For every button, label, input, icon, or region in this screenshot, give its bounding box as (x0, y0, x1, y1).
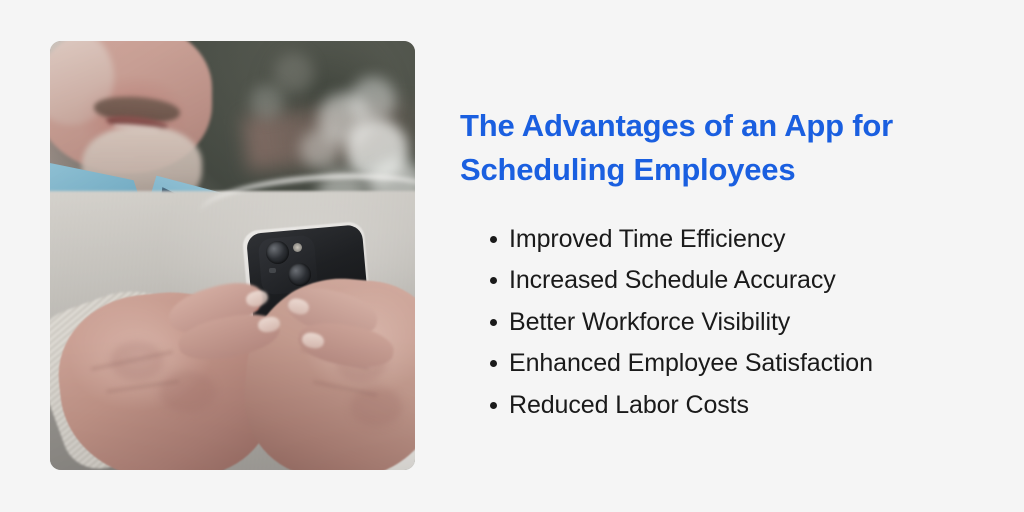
list-item: Better Workforce Visibility (509, 302, 980, 344)
list-item: Reduced Labor Costs (509, 385, 980, 427)
photo-senior-with-smartphone (50, 41, 415, 470)
page-title-line-1: The Advantages of an App for (460, 108, 893, 143)
text-column: The Advantages of an App for Scheduling … (460, 104, 980, 426)
list-item: Enhanced Employee Satisfaction (509, 343, 980, 385)
knuckle (160, 371, 216, 413)
page-title: The Advantages of an App for Scheduling … (460, 104, 980, 193)
list-item: Increased Schedule Accuracy (509, 260, 980, 302)
page-title-line-2: Scheduling Employees (460, 152, 795, 187)
camera-microphone (269, 268, 276, 273)
photo-card (50, 41, 415, 470)
camera-flash (293, 243, 302, 252)
infographic-page: The Advantages of an App for Scheduling … (0, 0, 1024, 512)
list-item: Improved Time Efficiency (509, 219, 980, 261)
benefits-list: Improved Time Efficiency Increased Sched… (460, 219, 980, 427)
